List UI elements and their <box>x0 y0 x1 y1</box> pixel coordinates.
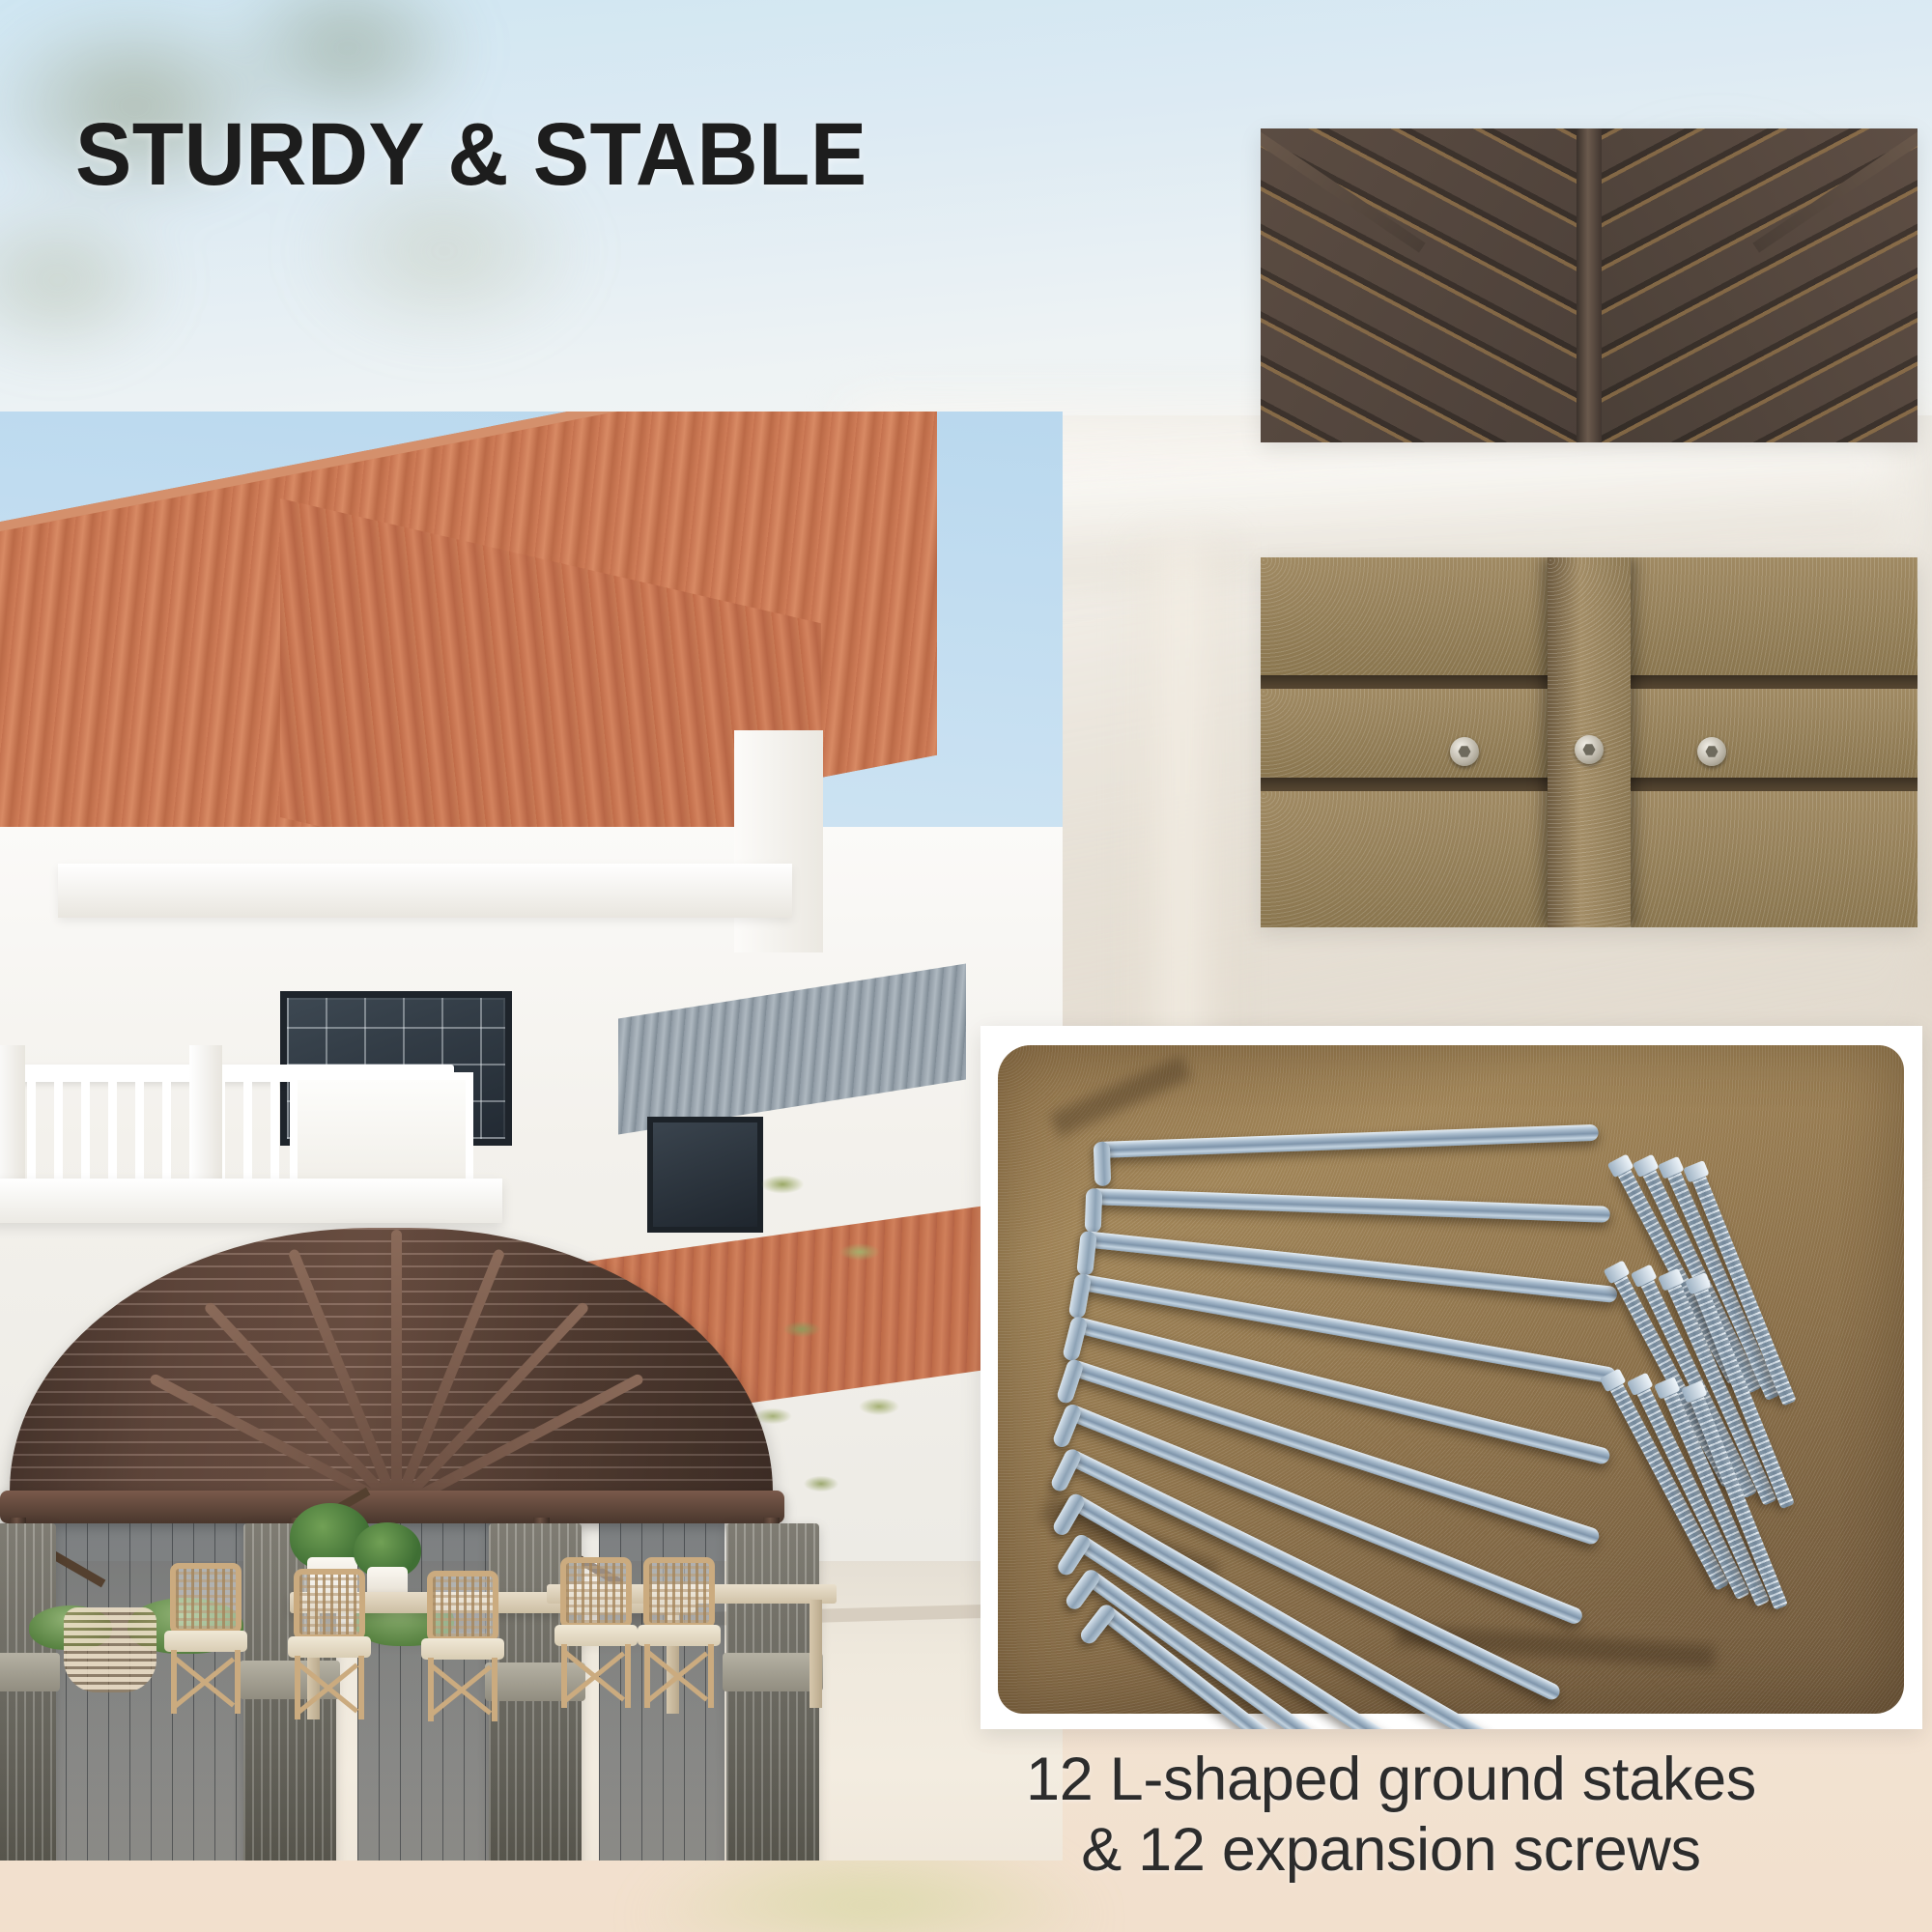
chair-seat-cushion <box>421 1638 504 1660</box>
feature-image-frame <box>1261 557 1918 927</box>
olive-tree <box>744 1126 937 1580</box>
house-balcony <box>0 1078 502 1233</box>
chair-legs <box>644 1644 714 1708</box>
chair-backrest <box>170 1563 241 1634</box>
feature-image-roof <box>1261 128 1918 442</box>
chair-legs <box>428 1658 497 1721</box>
chair-legs <box>295 1656 364 1719</box>
gazebo-roof-rib <box>391 1230 402 1508</box>
chair-backrest <box>643 1557 715 1629</box>
house-chimney <box>734 730 823 952</box>
frame-screw <box>1450 737 1479 766</box>
stakes-closeup-photo <box>980 1026 1922 1729</box>
gazebo-curtain-tieback <box>723 1653 823 1691</box>
hero-gazebo-photo <box>0 412 1063 1861</box>
woven-planter-basket <box>64 1607 156 1692</box>
frame-screw <box>1575 735 1604 764</box>
chair-seat-cushion <box>164 1631 247 1652</box>
gazebo-curtain-tieback <box>0 1653 60 1691</box>
feature-image-stakes <box>980 1026 1922 1729</box>
marketing-image-canvas: STURDY & STABLE <box>0 0 1932 1932</box>
roof-closeup-photo <box>1261 128 1918 442</box>
stake-hook <box>1094 1142 1112 1187</box>
page-title: STURDY & STABLE <box>75 104 867 206</box>
gazebo-eave <box>0 1491 784 1523</box>
frame-screw <box>1697 737 1726 766</box>
house-cornice-trim <box>58 864 792 918</box>
frame-closeup-photo <box>1261 557 1918 927</box>
dining-chair <box>288 1569 371 1719</box>
chair-backrest <box>294 1569 365 1640</box>
roof-ridge-cap <box>1577 128 1602 442</box>
chair-backrest <box>560 1557 632 1629</box>
chair-legs <box>171 1650 241 1714</box>
dining-chair <box>164 1563 247 1714</box>
balcony-base <box>0 1179 502 1223</box>
background-foliage-left <box>0 0 676 464</box>
table-leg <box>810 1600 822 1708</box>
dining-chair <box>638 1557 721 1708</box>
chair-seat-cushion <box>638 1625 721 1646</box>
chair-seat-cushion <box>554 1625 638 1646</box>
dining-chair <box>554 1557 638 1708</box>
balcony-post-left <box>0 1045 25 1190</box>
stake-hook <box>1085 1188 1103 1234</box>
balcony-post-mid <box>189 1045 222 1190</box>
chair-legs <box>561 1644 631 1708</box>
chair-backrest <box>427 1571 498 1642</box>
dining-chair <box>421 1571 504 1721</box>
feature-caption-stakes: 12 L-shaped ground stakes & 12 expansion… <box>850 1745 1932 1886</box>
chair-seat-cushion <box>288 1636 371 1658</box>
gazebo <box>0 1228 869 1861</box>
gazebo-curtain <box>0 1523 56 1861</box>
